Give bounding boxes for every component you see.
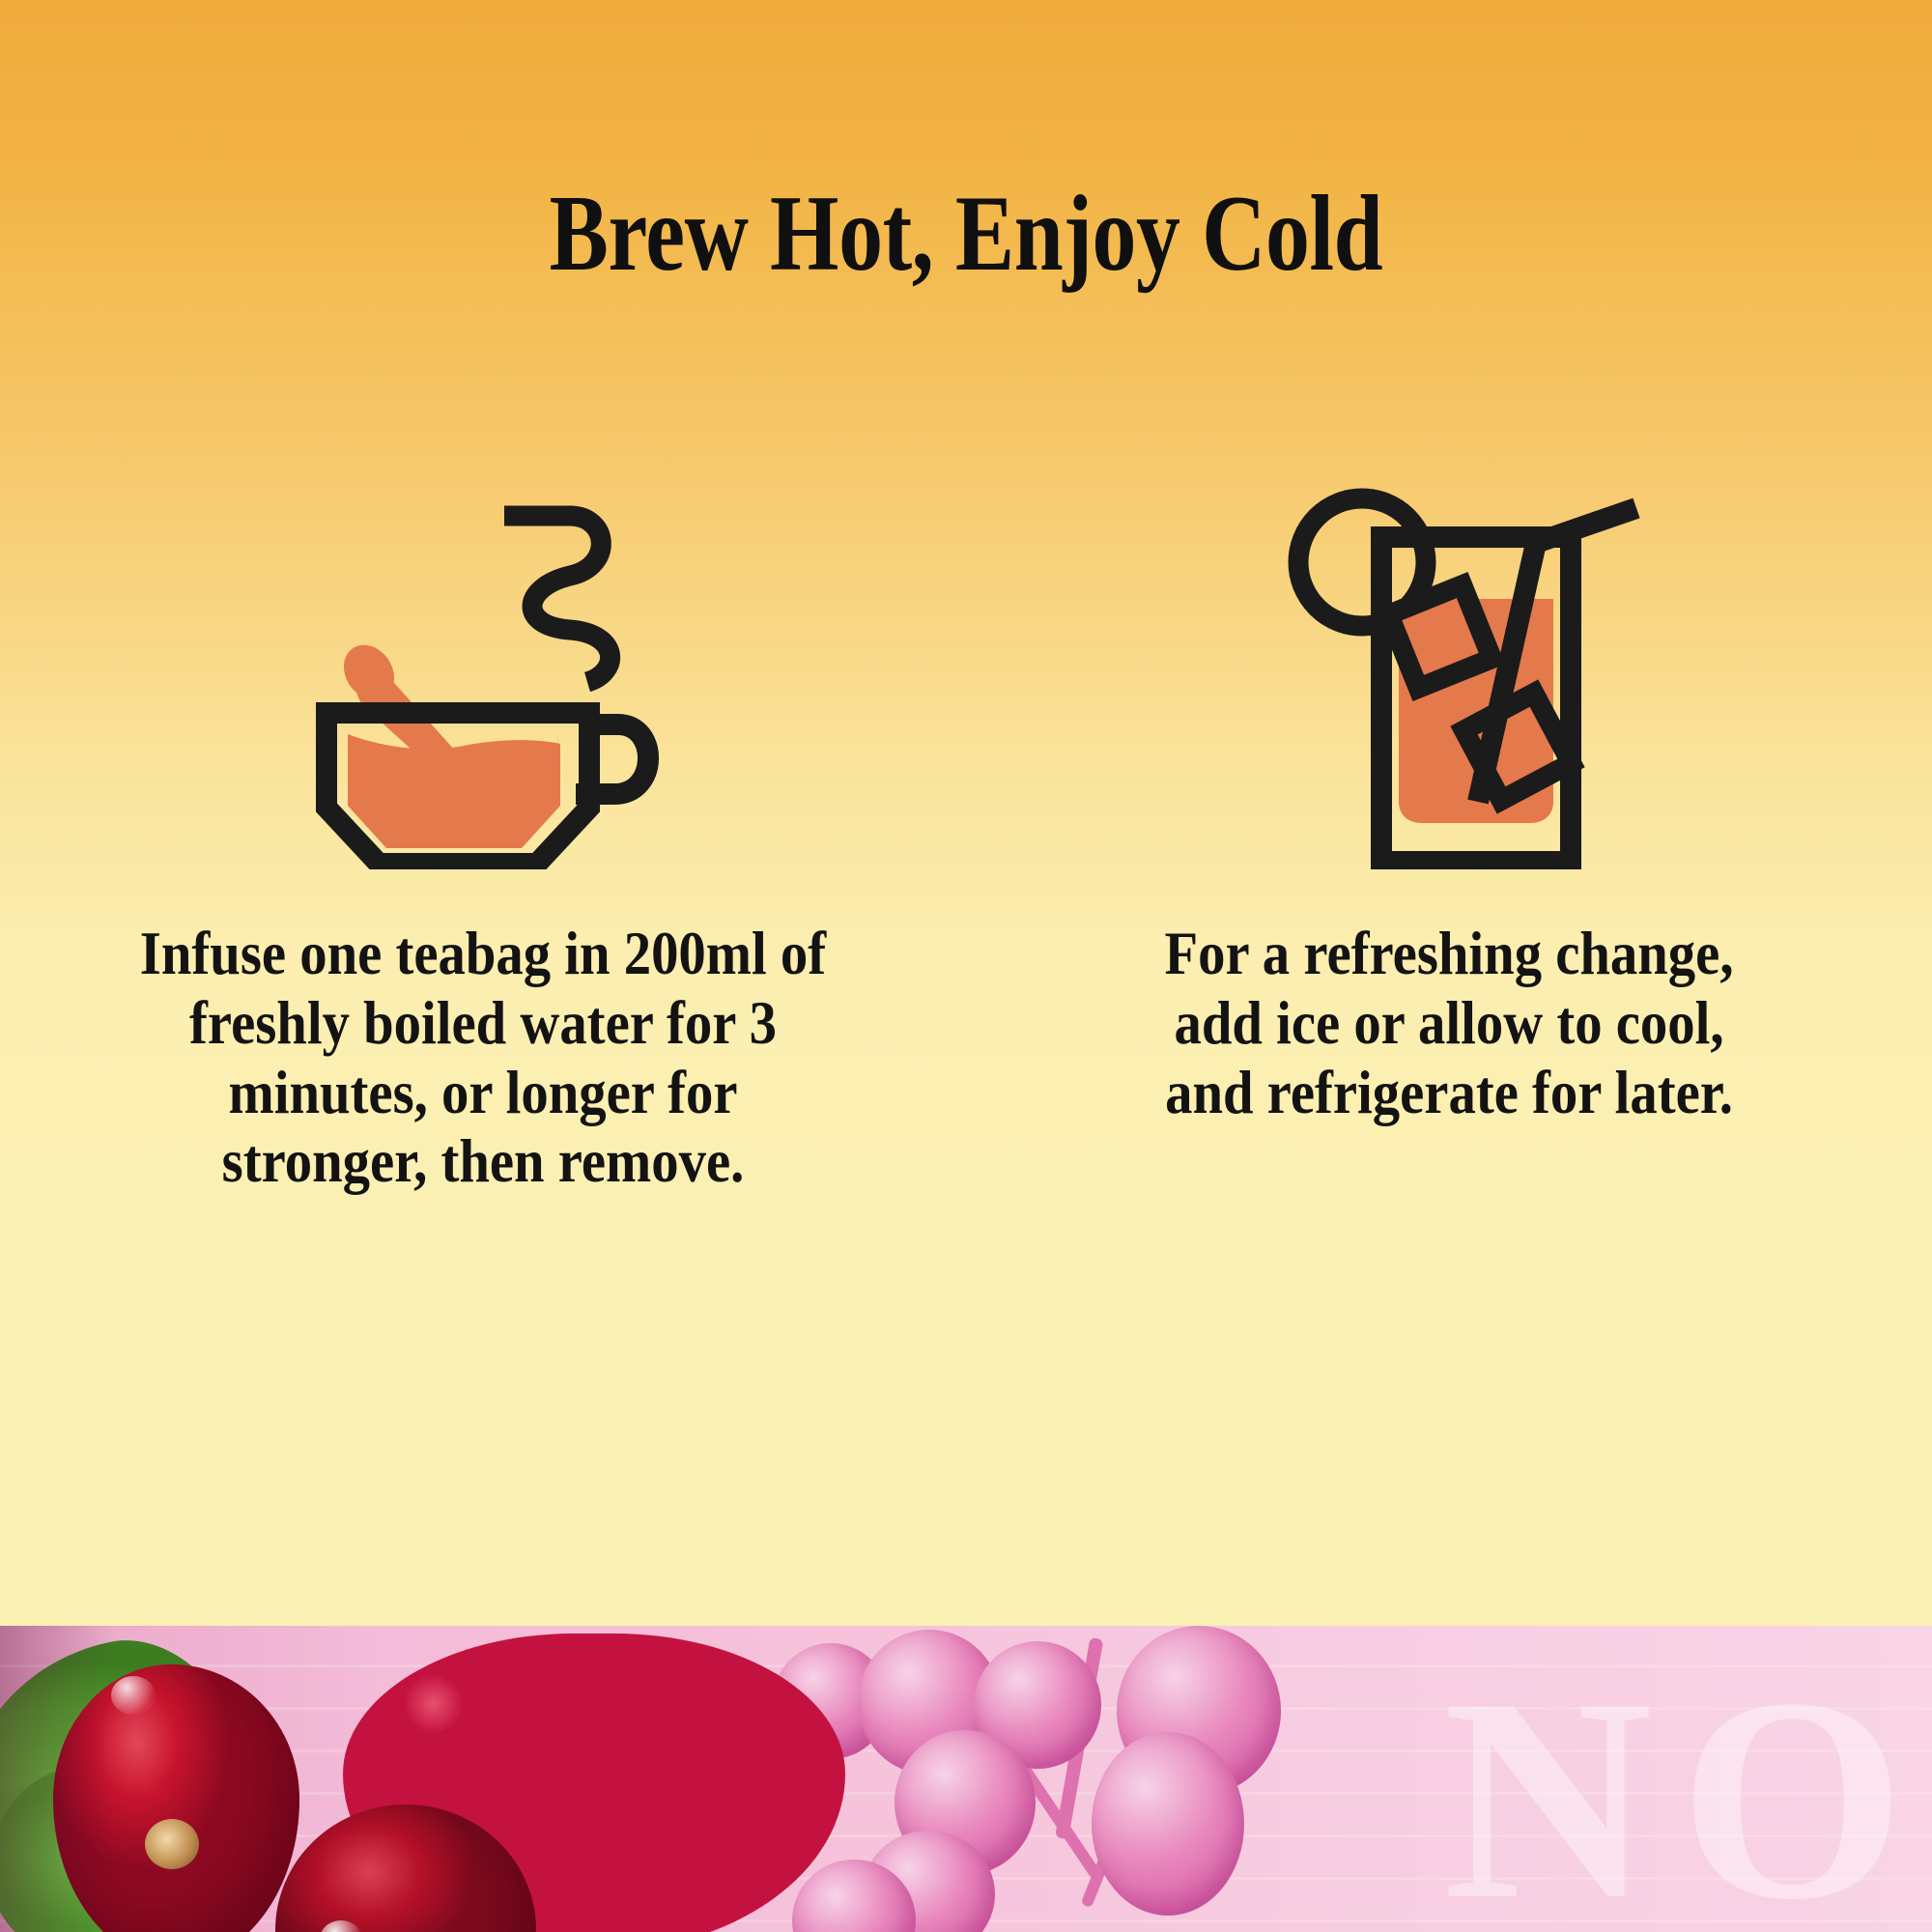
panel-brew-hot: Infuse one teabag in 200ml of freshly bo…: [0, 454, 966, 1323]
fruit-photo-strip: NO: [0, 1626, 1932, 1932]
poster-canvas: Brew Hot, Enjoy Cold: [0, 0, 1932, 1932]
panel-caption-brew-hot: Infuse one teabag in 200ml of freshly bo…: [135, 920, 831, 1197]
instruction-columns: Infuse one teabag in 200ml of freshly bo…: [0, 454, 1932, 1323]
panel-caption-enjoy-cold: For a refreshing change, add ice or allo…: [1145, 920, 1753, 1127]
teacup-with-steam-icon: [280, 454, 686, 869]
pink-currant-illustration: [802, 1626, 1768, 1932]
panel-enjoy-cold: For a refreshing change, add ice or allo…: [966, 454, 1932, 1323]
page-title: Brew Hot, Enjoy Cold: [174, 180, 1758, 288]
iced-drink-glass-icon: [1246, 454, 1652, 869]
cranberry-large: [53, 1664, 299, 1932]
